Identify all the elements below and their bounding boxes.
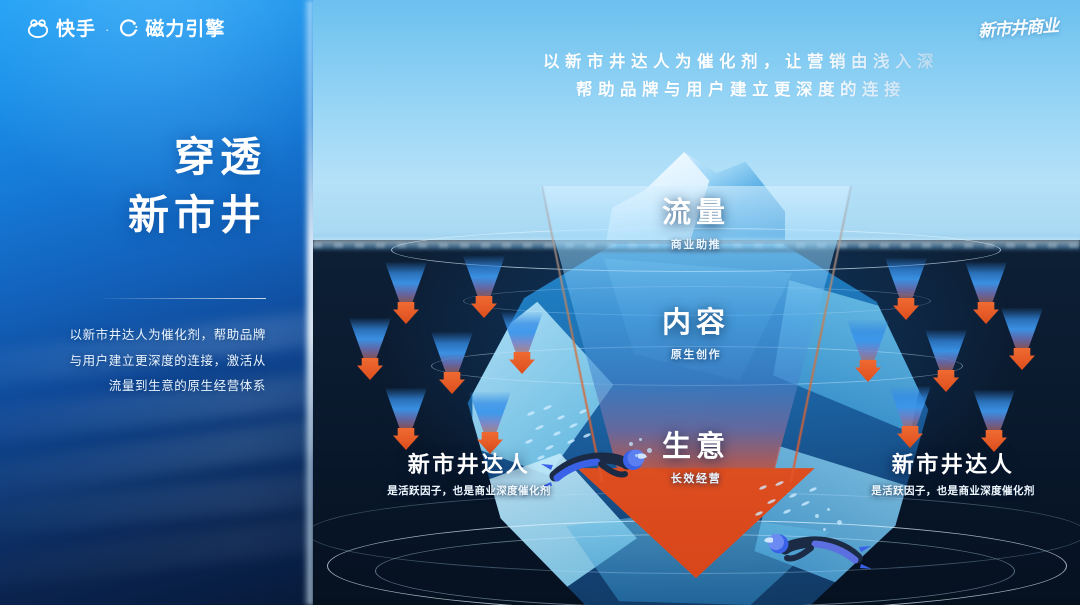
mini-funnel-arrow <box>847 320 889 384</box>
page-title-line1: 穿透 <box>174 134 266 180</box>
mini-funnel-arrow <box>501 312 543 376</box>
talent-title: 新市井达人 <box>825 452 1080 477</box>
talent-subtitle: 是活跃因子，也是商业深度催化剂 <box>825 483 1080 498</box>
mini-funnel-arrow <box>973 390 1015 454</box>
talent-subtitle: 是活跃因子，也是商业深度催化剂 <box>341 483 597 498</box>
stage-subtitle: 原生创作 <box>601 346 791 362</box>
headline-line2: 帮助品牌与用户建立更深度的连接 <box>461 76 1021 104</box>
diver-illustration-right <box>753 516 871 582</box>
stage-title: 生意 <box>601 432 791 464</box>
panel-description-line2: 与用户建立更深度的连接，激活从 <box>62 349 266 375</box>
mini-funnel-arrow <box>463 256 505 320</box>
page-title-line2: 新市井 <box>128 186 266 244</box>
mini-funnel-arrow <box>469 392 511 456</box>
bubbles-right <box>811 508 855 548</box>
headline-line1: 以新市井达人为催化剂，让营销由浅入深 <box>461 48 1021 76</box>
stage-subtitle: 长效经营 <box>601 470 791 486</box>
mini-funnel-arrow <box>885 258 927 322</box>
mini-funnel-arrow <box>431 332 473 396</box>
mini-funnel-arrow <box>385 388 427 452</box>
mini-funnel-arrow <box>385 262 427 326</box>
page-title: 穿透 新市井 <box>128 128 266 244</box>
poster-canvas: 快手 · 磁力引擎 穿透 新市井 以新市井达人为催化剂，帮助品牌 与用户建立更深… <box>0 0 1080 605</box>
mini-funnel-arrow <box>889 386 931 450</box>
talent-label-right: 新市井达人 是活跃因子，也是商业深度催化剂 <box>825 452 1080 498</box>
stage-title: 流量 <box>601 198 791 230</box>
stage-label-content: 内容 原生创作 <box>601 308 791 362</box>
stage-title: 内容 <box>601 308 791 340</box>
headline: 以新市井达人为催化剂，让营销由浅入深 帮助品牌与用户建立更深度的连接 <box>461 48 1021 105</box>
logo-separator: · <box>105 22 109 37</box>
panel-description: 以新市井达人为催化剂，帮助品牌 与用户建立更深度的连接，激活从 流量到生意的原生… <box>62 323 266 400</box>
mini-funnel-arrow <box>349 318 391 382</box>
brand-name-engine: 磁力引擎 <box>145 20 225 39</box>
panel-description-line3: 流量到生意的原生经营体系 <box>62 374 266 400</box>
mini-funnel-arrow <box>925 330 967 394</box>
stage-label-business: 生意 长效经营 <box>601 432 791 486</box>
iceberg-illustration: 流量 商业助推 内容 原生创作 生意 长效经营 新市井达人 是活跃因子，也是商业… <box>313 0 1080 605</box>
brand-logo[interactable]: 快手 · 磁力引擎 <box>27 18 225 40</box>
stage-label-traffic: 流量 商业助推 <box>601 198 791 252</box>
kuaishou-logo-icon <box>27 18 49 40</box>
brand-name-kuaishou: 快手 <box>56 20 96 39</box>
panel-description-line1: 以新市井达人为催化剂，帮助品牌 <box>62 323 266 349</box>
magnetic-engine-icon <box>118 19 138 39</box>
stage-subtitle: 商业助推 <box>601 236 791 252</box>
panel-wave-texture <box>0 0 313 605</box>
left-info-panel: 快手 · 磁力引擎 穿透 新市井 以新市井达人为催化剂，帮助品牌 与用户建立更深… <box>0 0 313 605</box>
talent-title: 新市井达人 <box>341 452 597 477</box>
title-divider <box>103 298 266 299</box>
mini-funnel-arrow <box>1001 308 1043 372</box>
talent-label-left: 新市井达人 是活跃因子，也是商业深度催化剂 <box>341 452 597 498</box>
